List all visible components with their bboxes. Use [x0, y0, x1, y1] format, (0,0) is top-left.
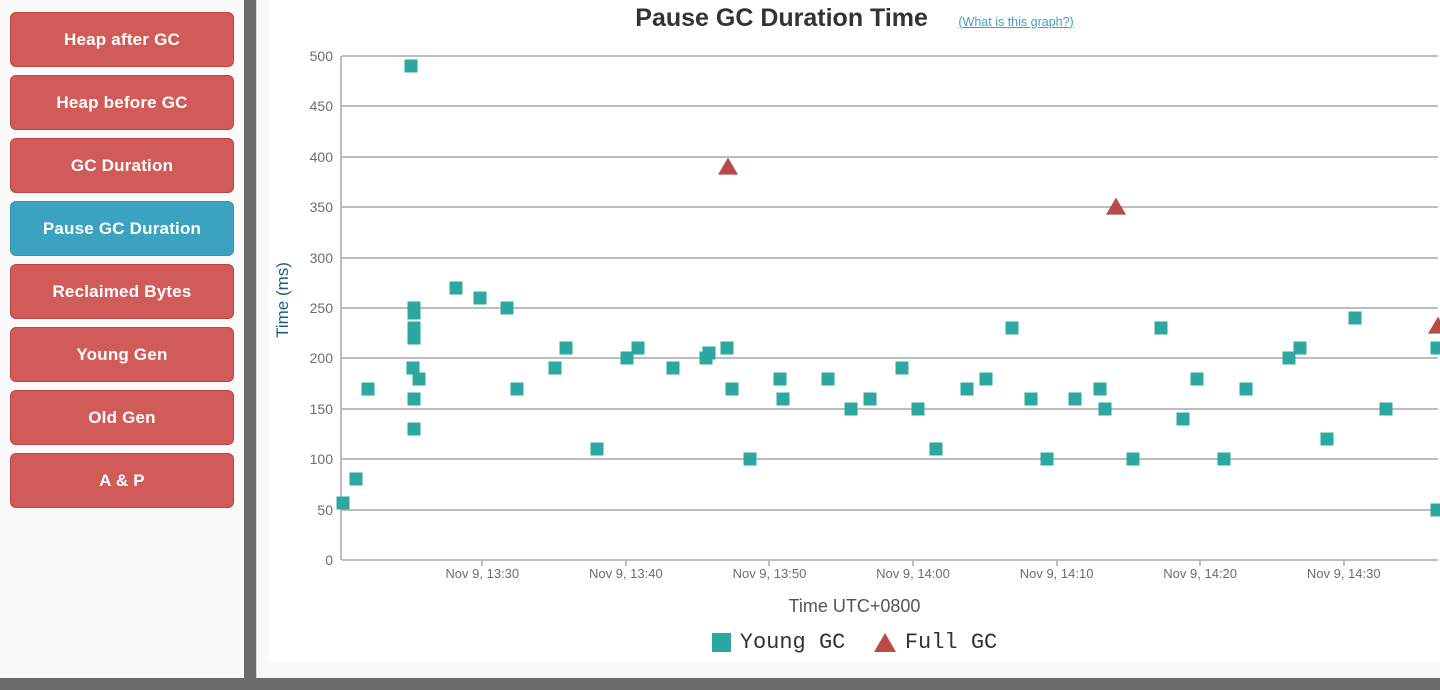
y-axis-tick-label: 200 [310, 350, 333, 366]
data-point-young-gc[interactable] [844, 402, 857, 415]
chart-panel-inner: Pause GC Duration Time (What is this gra… [269, 0, 1440, 662]
data-point-young-gc[interactable] [1293, 342, 1306, 355]
data-point-young-gc[interactable] [743, 453, 756, 466]
data-point-young-gc[interactable] [896, 362, 909, 375]
data-point-young-gc[interactable] [1069, 392, 1082, 405]
data-point-young-gc[interactable] [726, 382, 739, 395]
sidebar-item-label: Reclaimed Bytes [52, 282, 191, 302]
data-point-young-gc[interactable] [980, 372, 993, 385]
data-point-young-gc[interactable] [412, 372, 425, 385]
y-axis-tick-label: 100 [310, 451, 333, 467]
data-point-young-gc[interactable] [1348, 312, 1361, 325]
what-is-this-graph-link[interactable]: (What is this graph?) [958, 15, 1073, 29]
data-point-young-gc[interactable] [776, 392, 789, 405]
sidebar-item-young-gen[interactable]: Young Gen [10, 327, 234, 382]
data-point-young-gc[interactable] [405, 60, 418, 73]
data-point-young-gc[interactable] [930, 443, 943, 456]
data-point-young-gc[interactable] [1176, 412, 1189, 425]
data-point-young-gc[interactable] [1098, 402, 1111, 415]
chart-legend: Young GC Full GC [269, 630, 1440, 655]
data-point-young-gc[interactable] [1127, 453, 1140, 466]
legend-item-full-gc[interactable]: Full GC [874, 630, 997, 655]
gridline [342, 408, 1438, 410]
data-point-young-gc[interactable] [1005, 322, 1018, 335]
sidebar-item-label: A & P [99, 471, 145, 491]
data-point-young-gc[interactable] [1190, 372, 1203, 385]
data-point-young-gc[interactable] [960, 382, 973, 395]
y-axis-tick-label: 450 [310, 98, 333, 114]
data-point-young-gc[interactable] [1430, 342, 1440, 355]
data-point-young-gc[interactable] [362, 382, 375, 395]
y-axis-tick-label: 300 [310, 250, 333, 266]
data-point-young-gc[interactable] [1380, 402, 1393, 415]
data-point-young-gc[interactable] [1321, 433, 1334, 446]
data-point-young-gc[interactable] [1094, 382, 1107, 395]
data-point-young-gc[interactable] [1240, 382, 1253, 395]
gridline [342, 105, 1438, 107]
data-point-full-gc[interactable] [718, 158, 738, 175]
data-point-young-gc[interactable] [703, 347, 716, 360]
y-axis-label: Time (ms) [273, 262, 293, 338]
data-point-young-gc[interactable] [511, 382, 524, 395]
y-axis-tick-label: 400 [310, 149, 333, 165]
x-axis-label: Time UTC+0800 [269, 596, 1440, 617]
page-title: Pause GC Duration Time [635, 4, 928, 33]
data-point-young-gc[interactable] [591, 443, 604, 456]
y-axis-tick-label: 0 [325, 552, 333, 568]
data-point-young-gc[interactable] [407, 307, 420, 320]
gridline [342, 156, 1438, 158]
data-point-young-gc[interactable] [864, 392, 877, 405]
data-point-young-gc[interactable] [666, 362, 679, 375]
sidebar-item-label: GC Duration [71, 156, 173, 176]
sidebar-item-pause-gc-duration[interactable]: Pause GC Duration [10, 201, 234, 256]
sidebar-item-label: Heap after GC [64, 30, 180, 50]
sidebar-item-label: Old Gen [88, 408, 156, 428]
sidebar-item-label: Heap before GC [56, 93, 187, 113]
chart-panel: Pause GC Duration Time (What is this gra… [256, 0, 1440, 678]
data-point-young-gc[interactable] [474, 291, 487, 304]
data-point-young-gc[interactable] [1154, 322, 1167, 335]
gridline [342, 357, 1438, 359]
data-point-young-gc[interactable] [720, 342, 733, 355]
legend-label-young-gc: Young GC [740, 630, 846, 655]
data-point-young-gc[interactable] [631, 342, 644, 355]
y-axis-tick-label: 350 [310, 199, 333, 215]
y-axis-tick-label: 50 [317, 502, 333, 518]
triangle-marker-icon [874, 633, 896, 652]
data-point-young-gc[interactable] [1025, 392, 1038, 405]
sidebar-item-heap-after-gc[interactable]: Heap after GC [10, 12, 234, 67]
gridline [342, 257, 1438, 259]
sidebar-item-old-gen[interactable]: Old Gen [10, 390, 234, 445]
x-axis-tick-label: Nov 9, 14:10 [1020, 566, 1094, 581]
sidebar-nav-list: Heap after GCHeap before GCGC DurationPa… [10, 12, 234, 508]
data-point-young-gc[interactable] [408, 422, 421, 435]
sidebar-item-heap-before-gc[interactable]: Heap before GC [10, 75, 234, 130]
x-axis-tick-label: Nov 9, 14:20 [1163, 566, 1237, 581]
data-point-young-gc[interactable] [559, 342, 572, 355]
sidebar-item-reclaimed-bytes[interactable]: Reclaimed Bytes [10, 264, 234, 319]
data-point-young-gc[interactable] [1040, 453, 1053, 466]
data-point-young-gc[interactable] [449, 281, 462, 294]
gridline [342, 55, 1438, 57]
data-point-young-gc[interactable] [821, 372, 834, 385]
data-point-young-gc[interactable] [774, 372, 787, 385]
gc-viewer-app: Heap after GCHeap before GCGC DurationPa… [0, 0, 1440, 690]
square-marker-icon [712, 633, 731, 652]
x-axis-tick-label: Nov 9, 14:30 [1307, 566, 1381, 581]
data-point-young-gc[interactable] [336, 496, 349, 509]
sidebar-item-label: Young Gen [76, 345, 167, 365]
data-point-full-gc[interactable] [1428, 317, 1440, 334]
data-point-young-gc[interactable] [912, 402, 925, 415]
data-point-young-gc[interactable] [407, 332, 420, 345]
data-point-young-gc[interactable] [549, 362, 562, 375]
chart-header: Pause GC Duration Time (What is this gra… [269, 4, 1440, 33]
gridline [342, 206, 1438, 208]
legend-item-young-gc[interactable]: Young GC [712, 630, 846, 655]
x-axis-tick-label: Nov 9, 13:30 [445, 566, 519, 581]
data-point-young-gc[interactable] [1218, 453, 1231, 466]
data-point-young-gc[interactable] [501, 302, 514, 315]
gridline [342, 509, 1438, 511]
x-axis-tick-label: Nov 9, 13:40 [589, 566, 663, 581]
plot-area: 050100150200250300350400450500Nov 9, 13:… [342, 56, 1438, 560]
gridline [342, 458, 1438, 460]
data-point-young-gc[interactable] [1431, 503, 1440, 516]
sidebar-item-gc-duration[interactable]: GC Duration [10, 138, 234, 193]
gridline [342, 559, 1438, 561]
x-axis-tick-label: Nov 9, 13:50 [733, 566, 807, 581]
y-axis-tick-label: 500 [310, 48, 333, 64]
data-point-young-gc[interactable] [408, 392, 421, 405]
sidebar-item-label: Pause GC Duration [43, 219, 201, 239]
x-axis-tick-label: Nov 9, 14:00 [876, 566, 950, 581]
y-axis-tick-label: 150 [310, 401, 333, 417]
data-point-full-gc[interactable] [1106, 198, 1126, 215]
data-point-young-gc[interactable] [349, 473, 362, 486]
sidebar-item-a-p[interactable]: A & P [10, 453, 234, 508]
legend-label-full-gc: Full GC [905, 630, 997, 655]
sidebar: Heap after GCHeap before GCGC DurationPa… [0, 0, 246, 678]
y-axis-tick-label: 250 [310, 300, 333, 316]
